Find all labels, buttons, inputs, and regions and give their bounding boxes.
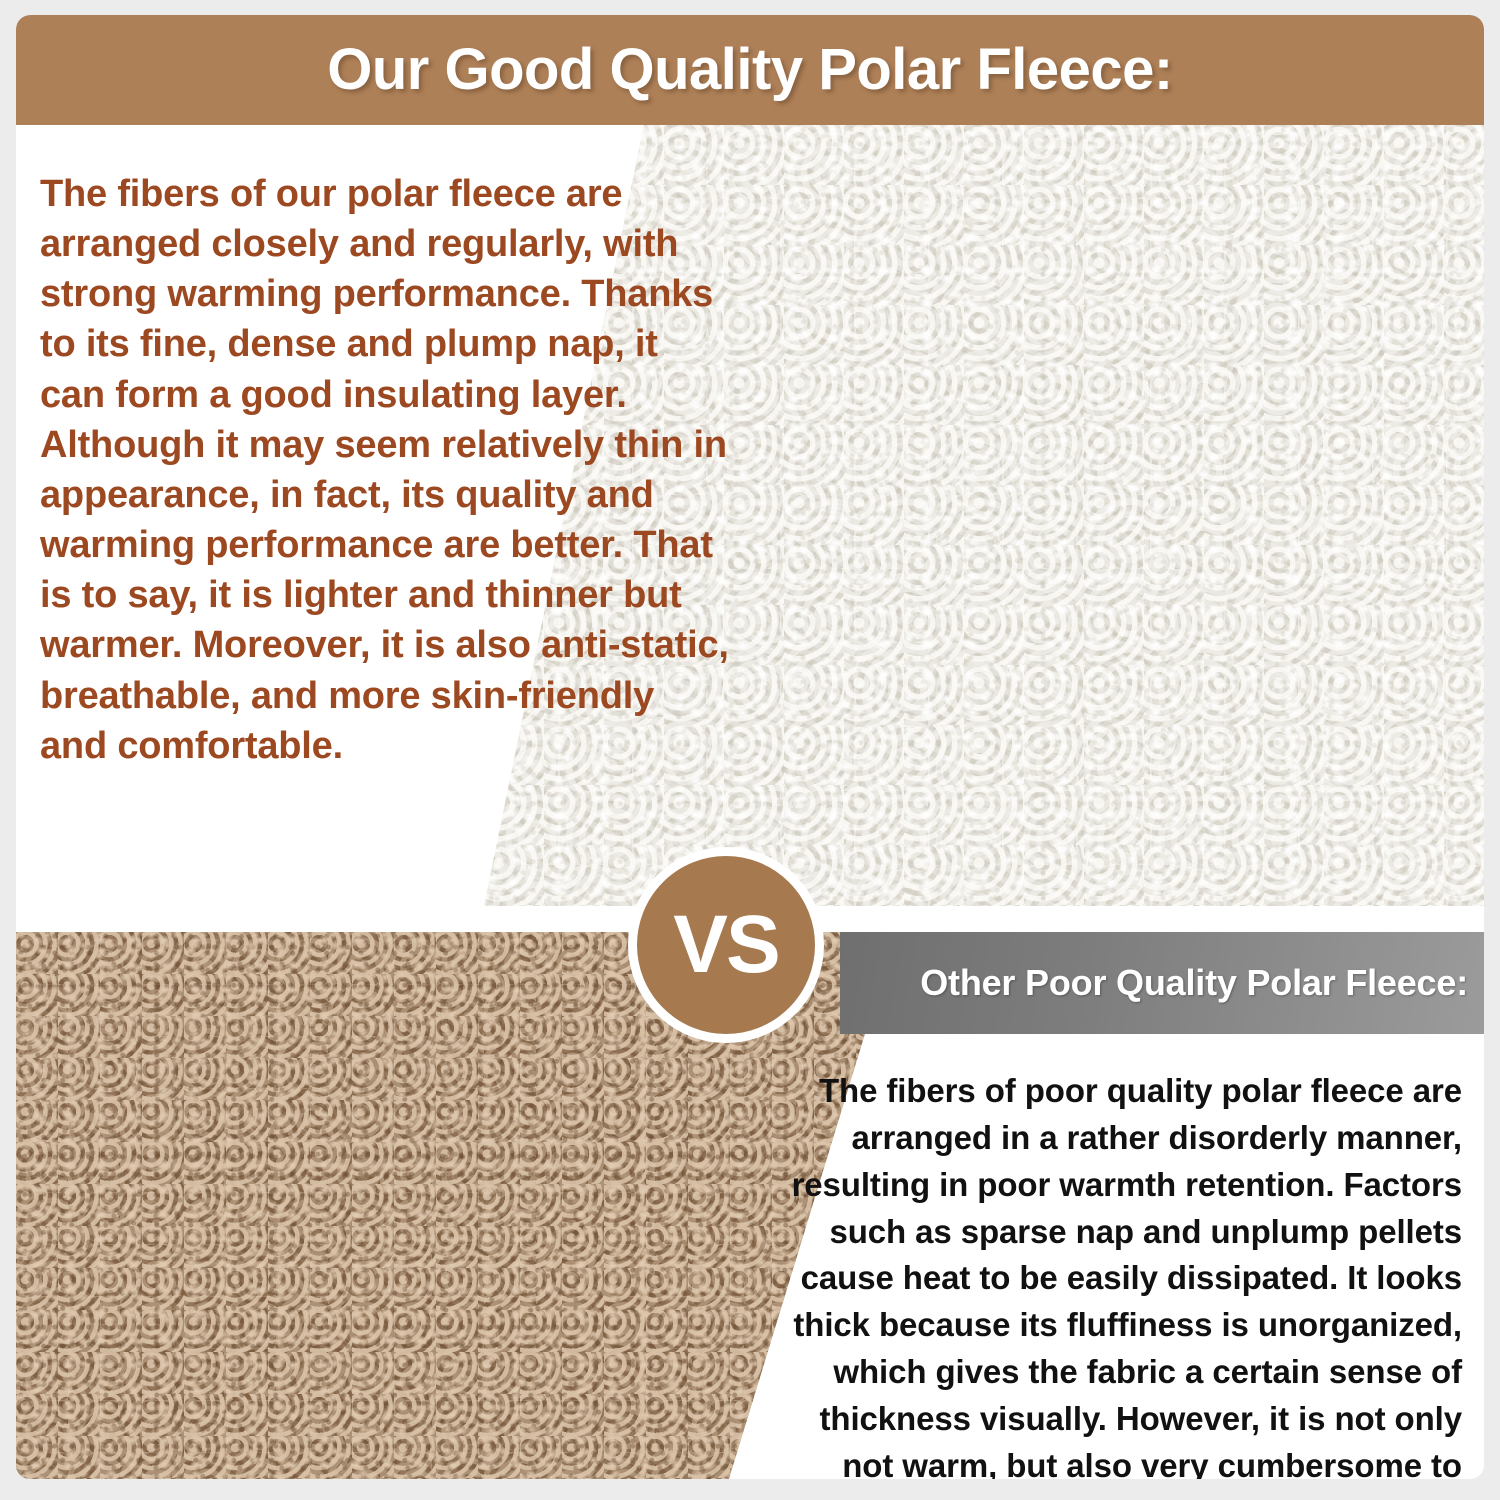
infographic-page: Our Good Quality Polar Fleece: The fiber… [0,0,1500,1500]
good-quality-text-block: The fibers of our polar fleece are arran… [40,169,730,771]
poor-quality-title-bar: Other Poor Quality Polar Fleece: [840,932,1484,1034]
good-quality-body: The fibers of our polar fleece are arran… [40,169,730,771]
page-title: Our Good Quality Polar Fleece: [327,41,1173,99]
good-quality-section: The fibers of our polar fleece are arran… [16,125,1484,906]
header-banner: Our Good Quality Polar Fleece: [16,15,1484,125]
comparison-card: Our Good Quality Polar Fleece: The fiber… [16,15,1484,1479]
poor-quality-body: The fibers of poor quality polar fleece … [770,1068,1462,1479]
vs-label: VS [673,904,778,986]
poor-quality-title: Other Poor Quality Polar Fleece: [920,962,1468,1004]
poor-quality-text-block: The fibers of poor quality polar fleece … [770,1068,1462,1479]
vs-badge: VS [628,847,824,1043]
